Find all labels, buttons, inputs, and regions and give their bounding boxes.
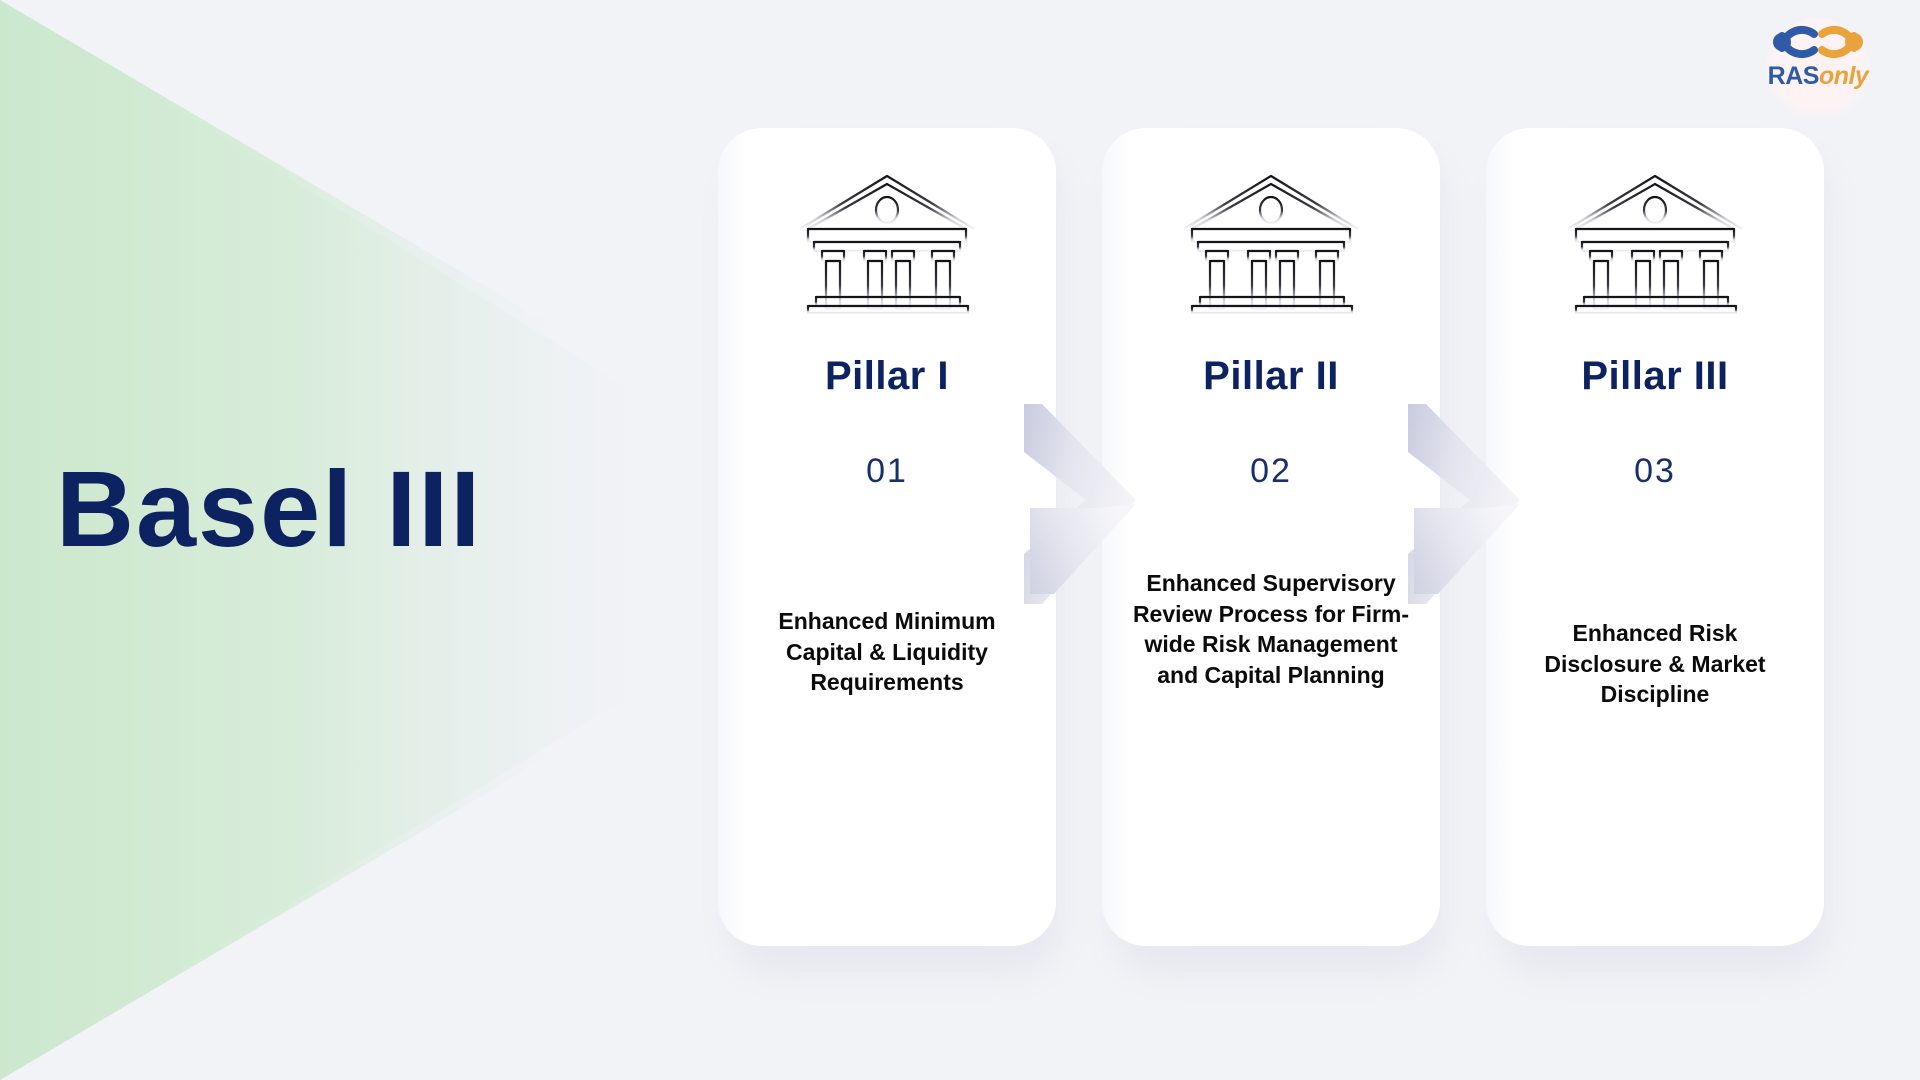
bank-building-icon [1560,166,1750,314]
card-surface: Pillar III 03 Enhanced Risk Disclosure &… [1486,128,1824,946]
pillar-description: Enhanced Risk Disclosure & Market Discip… [1512,618,1798,710]
bank-building-icon [1176,166,1366,314]
slide-canvas: RASonly Basel III [0,0,1920,1080]
card-surface: Pillar I 01 Enhanced Minimum Capital & L… [718,128,1056,946]
pillar-card[interactable]: Pillar III 03 Enhanced Risk Disclosure &… [1486,128,1824,960]
pillar-number: 03 [1634,454,1676,488]
pillar-title: Pillar II [1203,356,1339,396]
pillar-card[interactable]: Pillar II 02 Enhanced Supervisory Review… [1102,128,1440,960]
pillar-title: Pillar I [825,356,949,396]
pillar-title: Pillar III [1581,356,1728,396]
pillar-card-list: Pillar I 01 Enhanced Minimum Capital & L… [0,0,1920,1080]
pillar-number: 02 [1250,454,1292,488]
card-surface: Pillar II 02 Enhanced Supervisory Review… [1102,128,1440,946]
bank-building-icon [792,166,982,314]
pillar-description: Enhanced Supervisory Review Process for … [1128,568,1414,690]
pillar-number: 01 [866,454,908,488]
pillar-card[interactable]: Pillar I 01 Enhanced Minimum Capital & L… [718,128,1056,960]
pillar-description: Enhanced Minimum Capital & Liquidity Req… [744,606,1030,698]
